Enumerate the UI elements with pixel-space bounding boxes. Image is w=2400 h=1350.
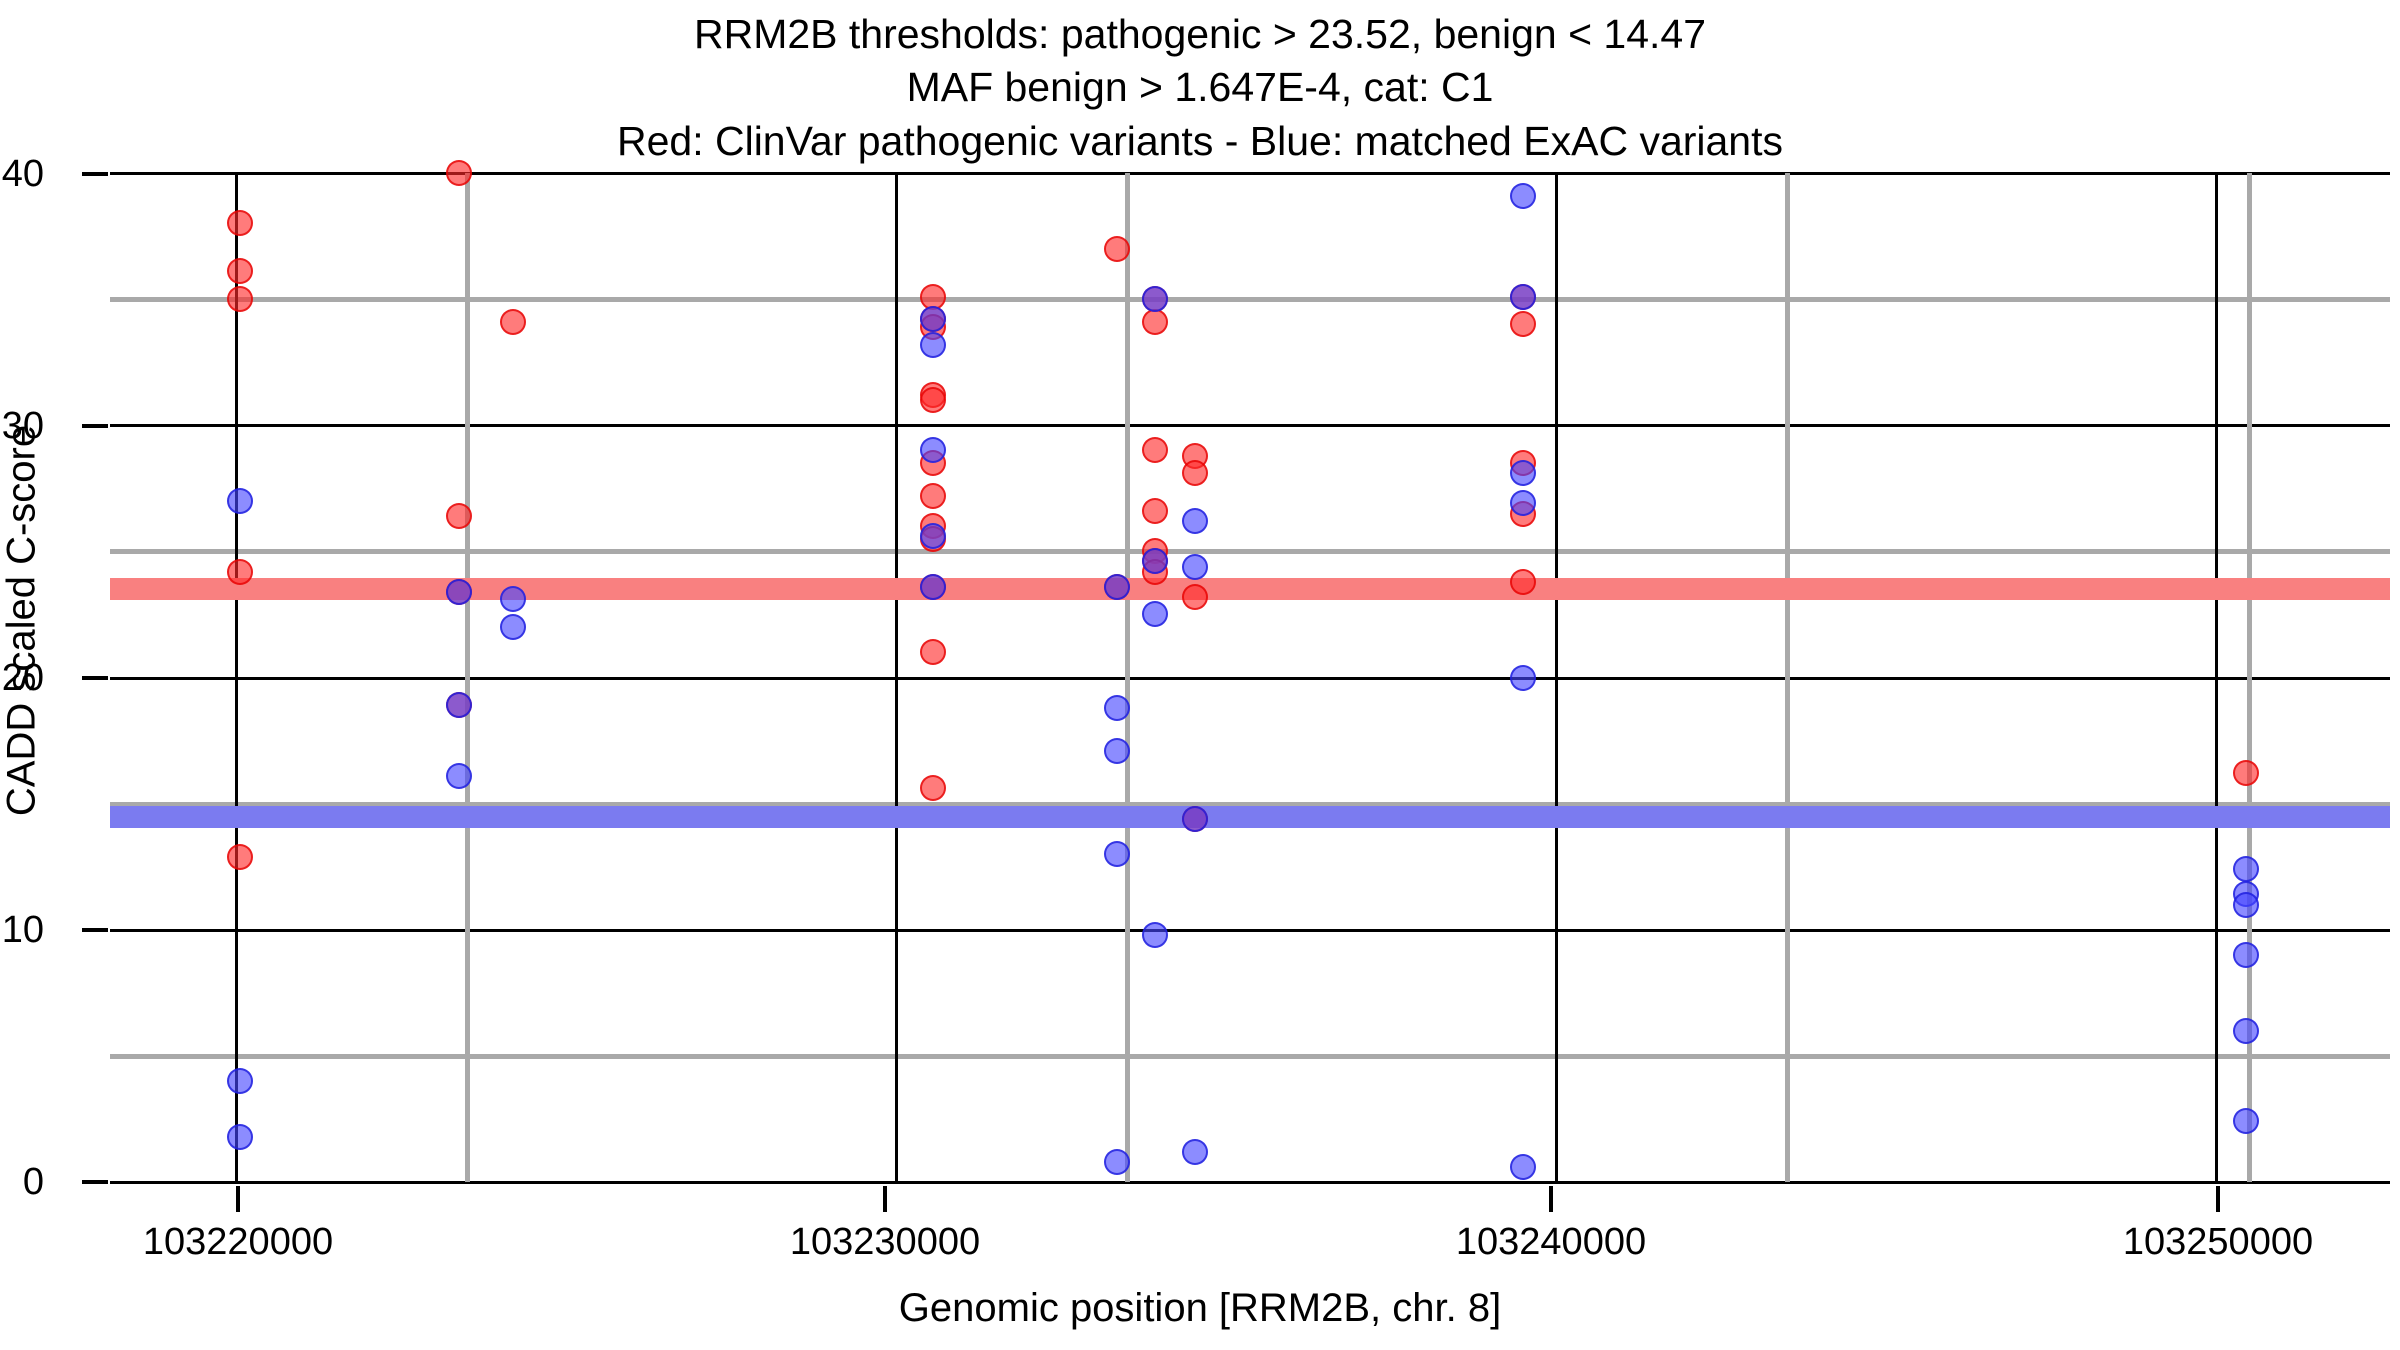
- x-tick-mark-103230000: [883, 1186, 887, 1212]
- data-point-exac: [2233, 856, 2259, 882]
- data-point-pathogenic: [920, 387, 946, 413]
- data-point-exac: [1182, 1139, 1208, 1165]
- y-tick-label-40: 40: [0, 155, 44, 193]
- data-point-exac: [2233, 1018, 2259, 1044]
- data-point-pathogenic: [920, 483, 946, 509]
- data-point-exac: [2233, 1108, 2259, 1134]
- gridline-horizontal-minor: [110, 297, 2390, 302]
- data-point-exac: [1510, 284, 1536, 310]
- gridline-vertical-minor: [465, 173, 470, 1182]
- data-point-exac: [1510, 183, 1536, 209]
- data-point-pathogenic: [1142, 498, 1168, 524]
- data-point-exac: [920, 574, 946, 600]
- data-point-exac: [1510, 1154, 1536, 1180]
- data-point-exac: [1104, 738, 1130, 764]
- data-point-pathogenic: [227, 210, 253, 236]
- data-point-pathogenic: [500, 309, 526, 335]
- scatter-plot-figure: RRM2B thresholds: pathogenic > 23.52, be…: [0, 0, 2400, 1350]
- x-tick-label-103230000: 103230000: [685, 1222, 1085, 1262]
- data-point-exac: [1104, 1149, 1130, 1175]
- x-axis-label: Genomic position [RRM2B, chr. 8]: [0, 1286, 2400, 1331]
- title-line-thresholds: RRM2B thresholds: pathogenic > 23.52, be…: [0, 8, 2400, 61]
- data-point-exac: [1104, 695, 1130, 721]
- data-point-exac: [1182, 508, 1208, 534]
- data-point-pathogenic: [1510, 569, 1536, 595]
- gridline-horizontal-major: [110, 929, 2390, 932]
- title-line-legend: Red: ClinVar pathogenic variants - Blue:…: [0, 115, 2400, 168]
- data-point-pathogenic: [1142, 309, 1168, 335]
- data-point-exac: [227, 488, 253, 514]
- data-point-pathogenic: [446, 160, 472, 186]
- data-point-exac: [1510, 460, 1536, 486]
- gridline-vertical-minor: [1125, 173, 1130, 1182]
- data-point-pathogenic: [227, 258, 253, 284]
- data-point-pathogenic: [2233, 760, 2259, 786]
- gridline-vertical-minor: [1785, 173, 1790, 1182]
- data-point-exac: [1142, 922, 1168, 948]
- data-point-pathogenic: [1104, 236, 1130, 262]
- data-point-exac: [1182, 806, 1208, 832]
- y-tick-label-10: 10: [0, 911, 44, 949]
- data-point-exac: [1142, 286, 1168, 312]
- data-point-pathogenic: [1182, 460, 1208, 486]
- plot-canvas: [110, 173, 2390, 1182]
- gridline-horizontal-major: [110, 1181, 2390, 1184]
- data-point-pathogenic: [227, 286, 253, 312]
- data-point-pathogenic: [920, 775, 946, 801]
- data-point-pathogenic: [1142, 437, 1168, 463]
- gridline-horizontal-minor: [110, 1054, 2390, 1059]
- data-point-exac: [446, 579, 472, 605]
- y-tick-label-20: 20: [0, 659, 44, 697]
- data-point-exac: [920, 523, 946, 549]
- title-line-maf: MAF benign > 1.647E-4, cat: C1: [0, 61, 2400, 114]
- y-tick-label-30: 30: [0, 407, 44, 445]
- data-point-exac: [446, 763, 472, 789]
- chart-title: RRM2B thresholds: pathogenic > 23.52, be…: [0, 8, 2400, 168]
- data-point-pathogenic: [227, 559, 253, 585]
- gridline-vertical-major: [1555, 173, 1558, 1182]
- data-point-pathogenic: [920, 639, 946, 665]
- benign-threshold-band: [110, 806, 2390, 828]
- data-point-exac: [1104, 841, 1130, 867]
- data-point-exac: [2233, 892, 2259, 918]
- y-axis-label: CADD scaled C-score: [0, 221, 45, 1021]
- data-point-pathogenic: [446, 503, 472, 529]
- y-tick-mark-10: [82, 928, 108, 932]
- data-point-exac: [1142, 601, 1168, 627]
- data-point-exac: [1510, 665, 1536, 691]
- data-point-exac: [500, 614, 526, 640]
- data-point-pathogenic: [227, 844, 253, 870]
- data-point-exac: [1104, 574, 1130, 600]
- x-tick-label-103250000: 103250000: [2018, 1222, 2400, 1262]
- y-tick-mark-0: [82, 1180, 108, 1184]
- y-tick-label-0: 0: [0, 1163, 44, 1201]
- x-tick-label-103220000: 103220000: [38, 1222, 438, 1262]
- gridline-vertical-major: [895, 173, 898, 1182]
- data-point-exac: [1182, 554, 1208, 580]
- y-tick-mark-20: [82, 676, 108, 680]
- gridline-horizontal-major: [110, 424, 2390, 427]
- gridline-horizontal-major: [110, 677, 2390, 680]
- data-point-exac: [2233, 942, 2259, 968]
- x-tick-mark-103240000: [1549, 1186, 1553, 1212]
- data-point-exac: [500, 586, 526, 612]
- data-point-pathogenic: [1510, 311, 1536, 337]
- x-tick-mark-103250000: [2216, 1186, 2220, 1212]
- gridline-vertical-major: [2215, 173, 2218, 1182]
- y-tick-mark-40: [82, 172, 108, 176]
- x-tick-mark-103220000: [236, 1186, 240, 1212]
- gridline-horizontal-minor: [110, 549, 2390, 554]
- data-point-pathogenic: [1182, 584, 1208, 610]
- x-tick-label-103240000: 103240000: [1351, 1222, 1751, 1262]
- gridline-vertical-major: [235, 173, 238, 1182]
- y-tick-mark-30: [82, 424, 108, 428]
- data-point-exac: [227, 1068, 253, 1094]
- data-point-exac: [920, 332, 946, 358]
- data-point-exac: [227, 1124, 253, 1150]
